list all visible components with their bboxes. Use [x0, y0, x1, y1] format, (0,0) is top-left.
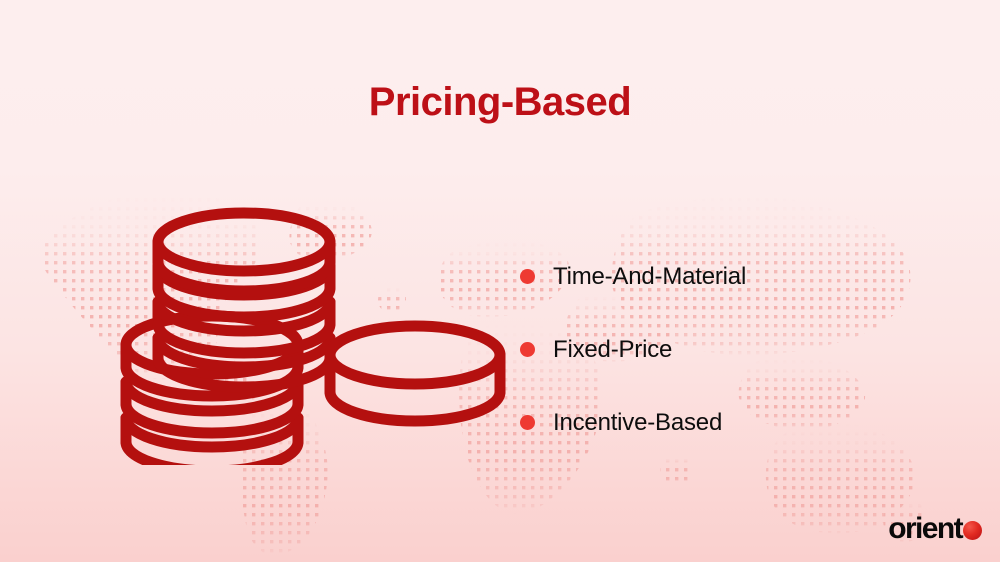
- logo-dot-icon: [963, 521, 982, 540]
- page-title: Pricing-Based: [0, 80, 1000, 124]
- orient-logo[interactable]: orient: [888, 514, 982, 544]
- logo-wordmark: orient: [888, 514, 962, 544]
- bullet-dot-icon: [520, 269, 535, 284]
- list-item-label: Fixed-Price: [553, 336, 672, 364]
- slide-canvas: Pricing-Based: [0, 0, 1000, 562]
- bullet-dot-icon: [520, 415, 535, 430]
- list-item-label: Incentive-Based: [553, 409, 722, 437]
- list-item-label: Time-And-Material: [553, 263, 746, 291]
- list-item[interactable]: Time-And-Material: [520, 240, 950, 313]
- bullet-list: Time-And-Material Fixed-Price Incentive-…: [520, 240, 950, 459]
- list-item[interactable]: Incentive-Based: [520, 386, 950, 459]
- stack-of-coins-icon: [100, 190, 530, 465]
- list-item[interactable]: Fixed-Price: [520, 313, 950, 386]
- bullet-dot-icon: [520, 342, 535, 357]
